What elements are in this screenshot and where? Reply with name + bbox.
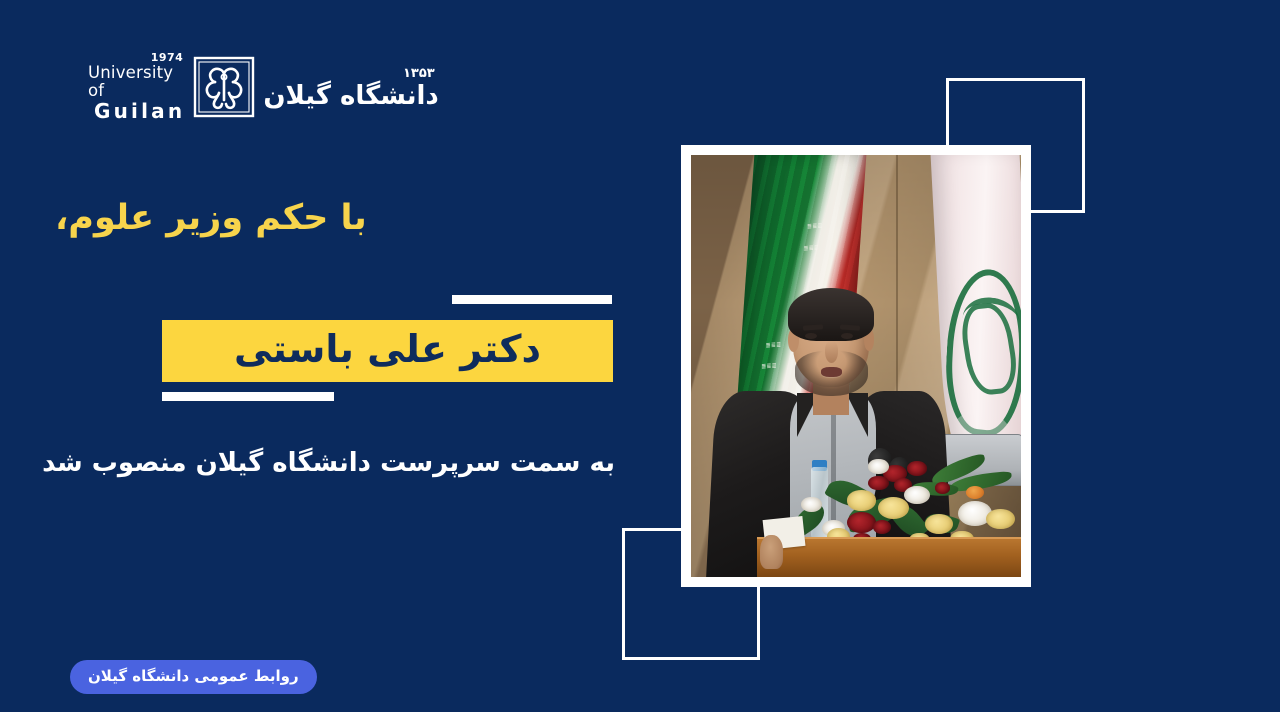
logo-persian-text: ۱۳۵۳ دانشگاه گیلان [263,66,438,109]
accent-bar-bottom [162,392,334,401]
red-rose [847,512,875,533]
yellow-rose [847,490,875,510]
logo-year-gregorian: 1974 [151,52,184,64]
speaker-collar-right [846,393,868,437]
logo-university-word: University of [88,64,185,99]
speaker-podium-photo: ≣≣≣ ≣≣≣ ≣≣≣ ≣≣≣ [691,155,1021,577]
red-rose [868,476,889,491]
announcement-poster: 1974 University of Guilan [0,0,1280,712]
speaker-mouth [821,367,842,377]
guilan-emblem-icon [193,56,255,118]
white-rose [801,497,822,512]
red-rose [873,520,891,534]
logo-guilan-word: Guilan [94,101,185,122]
name-highlight-band: دکتر علی باستی [162,320,613,382]
logo-persian-name: دانشگاه گیلان [263,83,438,109]
white-rose [868,459,889,474]
speaker-eyebrow-right [839,324,859,330]
flag-kufic-script: ≣≣≣ [804,243,820,252]
subtitle-text: به سمت سرپرست دانشگاه گیلان منصوب شد [55,448,615,478]
person-name: دکتر علی باستی [234,330,541,372]
university-logo: 1974 University of Guilan [88,44,408,130]
public-relations-badge-label: روابط عمومی دانشگاه گیلان [88,669,299,686]
organisation-flag-emblem-icon [942,264,1021,439]
red-rose [907,461,928,476]
accent-bar-top [452,295,612,304]
photo-frame: ≣≣≣ ≣≣≣ ≣≣≣ ≣≣≣ [681,145,1031,587]
red-rose [935,482,950,494]
flag-kufic-script: ≣≣≣ [808,221,824,230]
speaker-hand [760,535,783,569]
headline-text: با حکم وزیر علوم، [55,198,615,238]
speaker-eyebrow-left [803,324,823,330]
logo-year-persian: ۱۳۵۳ [403,66,435,81]
orange-rose [966,486,984,499]
organisation-flag-emblem-arc [961,294,1020,346]
white-rose [904,486,930,504]
speaker-hair [788,288,874,341]
yellow-rose [986,509,1014,529]
yellow-rose [878,497,909,519]
flag-kufic-script: ≣≣≣ [762,361,778,370]
yellow-rose [925,514,953,534]
flag-kufic-script: ≣≣≣ [766,340,782,349]
logo-english-text: 1974 University of Guilan [88,52,185,122]
public-relations-badge[interactable]: روابط عمومی دانشگاه گیلان [70,660,317,694]
